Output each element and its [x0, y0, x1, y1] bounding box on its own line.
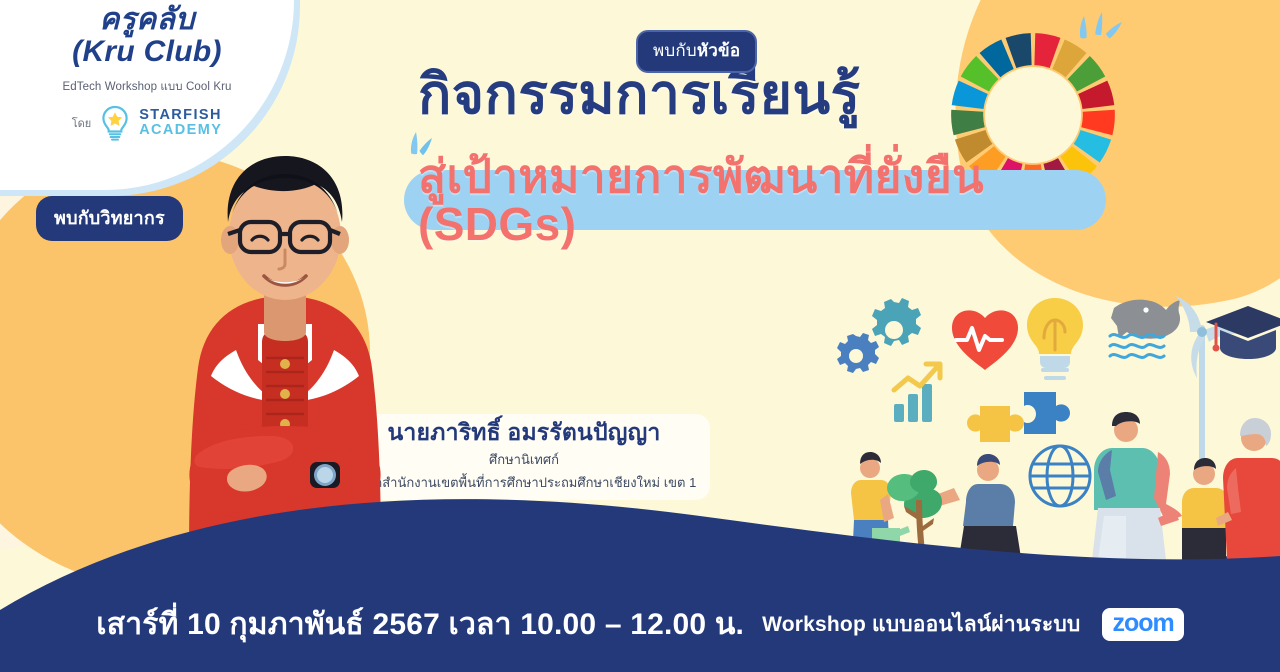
puzzle-pieces-icon: [967, 392, 1070, 442]
lightbulb-star-icon: [98, 105, 132, 141]
by-label: โดย: [72, 114, 92, 132]
gear-icon: [872, 298, 921, 346]
promo-banner: ครูคลับ (Kru Club) EdTech Workshop แบบ C…: [0, 0, 1280, 672]
footer-content: เสาร์ที่ 10 กุมภาพันธ์ 2567 เวลา 10.00 –…: [0, 576, 1280, 672]
brand-title: ครูคลับ (Kru Club): [72, 4, 222, 69]
topic-badge-bold: หัวข้อ: [697, 41, 740, 60]
topic-badge-prefix: พบกับ: [653, 41, 697, 60]
heart-pulse-icon: [952, 310, 1018, 370]
headline: กิจกรรมการเรียนรู้ สู่เป้าหมายการพัฒนาที…: [418, 66, 1118, 248]
fish-water-icon: [1110, 300, 1180, 358]
headline-sdgs-label: (SDGs): [418, 198, 576, 250]
topic-badge: พบกับหัวข้อ: [636, 30, 757, 73]
headline-line-2-text: สู่เป้าหมายการพัฒนาที่ยั่งยืน: [418, 150, 984, 202]
brand-subtitle: EdTech Workshop แบบ Cool Kru: [62, 78, 231, 96]
brand-title-thai: ครูคลับ: [72, 4, 222, 36]
brand-title-english: (Kru Club): [72, 36, 222, 68]
speaker-role: ศึกษานิเทศก์: [489, 449, 559, 470]
zoom-wordmark: zoom: [1112, 611, 1173, 636]
zoom-logo: zoom: [1102, 608, 1183, 641]
lightbulb-icon: [1027, 298, 1083, 378]
bar-chart-growth-icon: [894, 364, 940, 422]
event-mode: Workshop แบบออนไลน์ผ่านระบบ: [762, 608, 1080, 641]
headline-line-1: กิจกรรมการเรียนรู้: [418, 66, 1118, 124]
event-date-time: เสาร์ที่ 10 กุมภาพันธ์ 2567 เวลา 10.00 –…: [96, 601, 744, 648]
sparkle-icon: [1072, 10, 1138, 67]
graduation-cap-icon: [1206, 306, 1280, 359]
headline-line-2: สู่เป้าหมายการพัฒนาที่ยั่งยืน (SDGs): [418, 152, 1118, 249]
